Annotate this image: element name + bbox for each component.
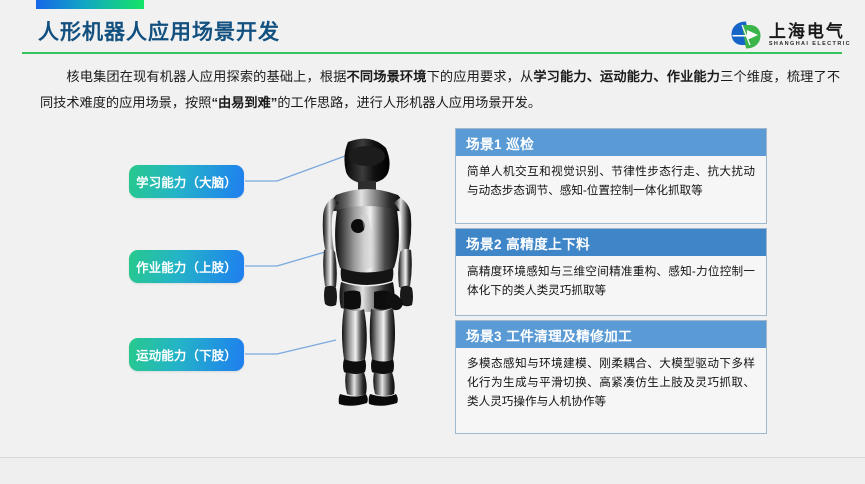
title-divider — [22, 52, 842, 54]
slide-canvas: 人形机器人应用场景开发 上海电气 SHANGHAI ELECTRIC 核电集团在… — [0, 0, 865, 484]
capability-pill-learning-label: 学习能力（大脑） — [136, 173, 237, 191]
intro-segment-0: 核电集团在现有机器人应用探索的基础上，根据 — [66, 69, 346, 84]
intro-segment-5: “由易到难” — [211, 95, 277, 110]
top-accent-bar — [36, 0, 144, 9]
capability-pill-learning[interactable]: 学习能力（大脑） — [129, 165, 244, 198]
capability-pill-manipulation[interactable]: 作业能力（上肢） — [129, 250, 244, 283]
intro-segment-3: 学习能力、运动能力、作业能力 — [533, 69, 720, 84]
humanoid-robot-image — [296, 132, 446, 410]
scenario-card-1[interactable]: 场景1 巡检 简单人机交互和视觉识别、节律性步态行走、抗大扰动与动态步态调节、感… — [455, 128, 767, 224]
footer-strip — [0, 458, 865, 484]
intro-segment-2: 下的应用要求，从 — [427, 69, 534, 84]
page-title: 人形机器人应用场景开发 — [38, 21, 280, 44]
humanoid-robot-icon — [296, 132, 446, 410]
brand-logo: 上海电气 SHANGHAI ELECTRIC — [730, 20, 851, 50]
scenario-card-1-title: 场景1 巡检 — [456, 129, 766, 156]
scenario-card-1-body: 简单人机交互和视觉识别、节律性步态行走、抗大扰动与动态步态调节、感知-位置控制一… — [456, 156, 766, 207]
brand-name-block: 上海电气 SHANGHAI ELECTRIC — [769, 23, 851, 48]
capability-pill-locomotion-label: 运动能力（下肢） — [136, 346, 237, 364]
scenario-card-2-title: 场景2 高精度上下料 — [456, 229, 766, 256]
intro-paragraph: 核电集团在现有机器人应用探索的基础上，根据不同场景环境下的应用要求，从学习能力、… — [40, 64, 840, 117]
shanghai-electric-logo-icon — [730, 20, 762, 50]
scenario-card-3[interactable]: 场景3 工件清理及精修加工 多模态感知与环境建模、刚柔耦合、大模型驱动下多样化行… — [455, 320, 767, 434]
scenario-card-3-body: 多模态感知与环境建模、刚柔耦合、大模型驱动下多样化行为生成与平滑切换、高紧凑仿生… — [456, 348, 766, 417]
intro-segment-6: 的工作思路，进行人形机器人应用场景开发。 — [277, 95, 541, 110]
intro-segment-1: 不同场景环境 — [347, 69, 427, 84]
capability-pill-locomotion[interactable]: 运动能力（下肢） — [129, 338, 244, 371]
scenario-card-2[interactable]: 场景2 高精度上下料 高精度环境感知与三维空间精准重构、感知-力位控制一体化下的… — [455, 228, 767, 316]
scenario-card-2-body: 高精度环境感知与三维空间精准重构、感知-力位控制一体化下的类人类灵巧抓取等 — [456, 256, 766, 307]
scenario-card-3-title: 场景3 工件清理及精修加工 — [456, 321, 766, 348]
capability-pill-manipulation-label: 作业能力（上肢） — [136, 258, 237, 276]
brand-name-cn: 上海电气 — [769, 23, 851, 40]
brand-name-en: SHANGHAI ELECTRIC — [769, 42, 851, 48]
